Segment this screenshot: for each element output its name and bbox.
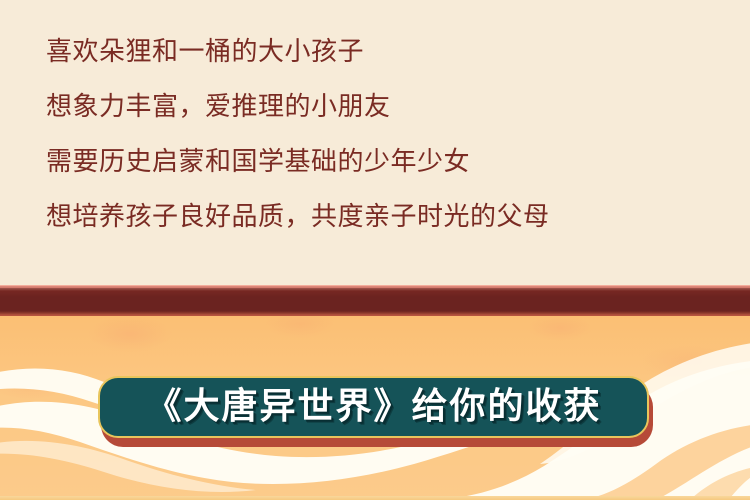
audience-line-1: 喜欢朵狸和一桶的大小孩子: [46, 24, 706, 79]
audience-line-4: 想培养孩子良好品质，共度亲子时光的父母: [46, 189, 706, 244]
bottom-edge-line: [0, 496, 750, 500]
audience-line-3: 需要历史启蒙和国学基础的少年少女: [46, 134, 706, 189]
audience-panel: 喜欢朵狸和一桶的大小孩子 想象力丰富，爱推理的小朋友 需要历史启蒙和国学基础的少…: [0, 0, 750, 286]
divider-highlight: [0, 285, 750, 291]
audience-line-2: 想象力丰富，爱推理的小朋友: [46, 79, 706, 134]
promo-poster: 喜欢朵狸和一桶的大小孩子 想象力丰富，爱推理的小朋友 需要历史启蒙和国学基础的少…: [0, 0, 750, 500]
headline-banner: 《大唐异世界》给你的收获: [98, 376, 649, 438]
audience-list: 喜欢朵狸和一桶的大小孩子 想象力丰富，爱推理的小朋友 需要历史启蒙和国学基础的少…: [46, 24, 706, 244]
headline-banner-wrapper: 《大唐异世界》给你的收获: [98, 376, 653, 446]
section-divider-band: [0, 285, 750, 316]
headline-title: 《大唐异世界》给你的收获: [145, 389, 601, 425]
